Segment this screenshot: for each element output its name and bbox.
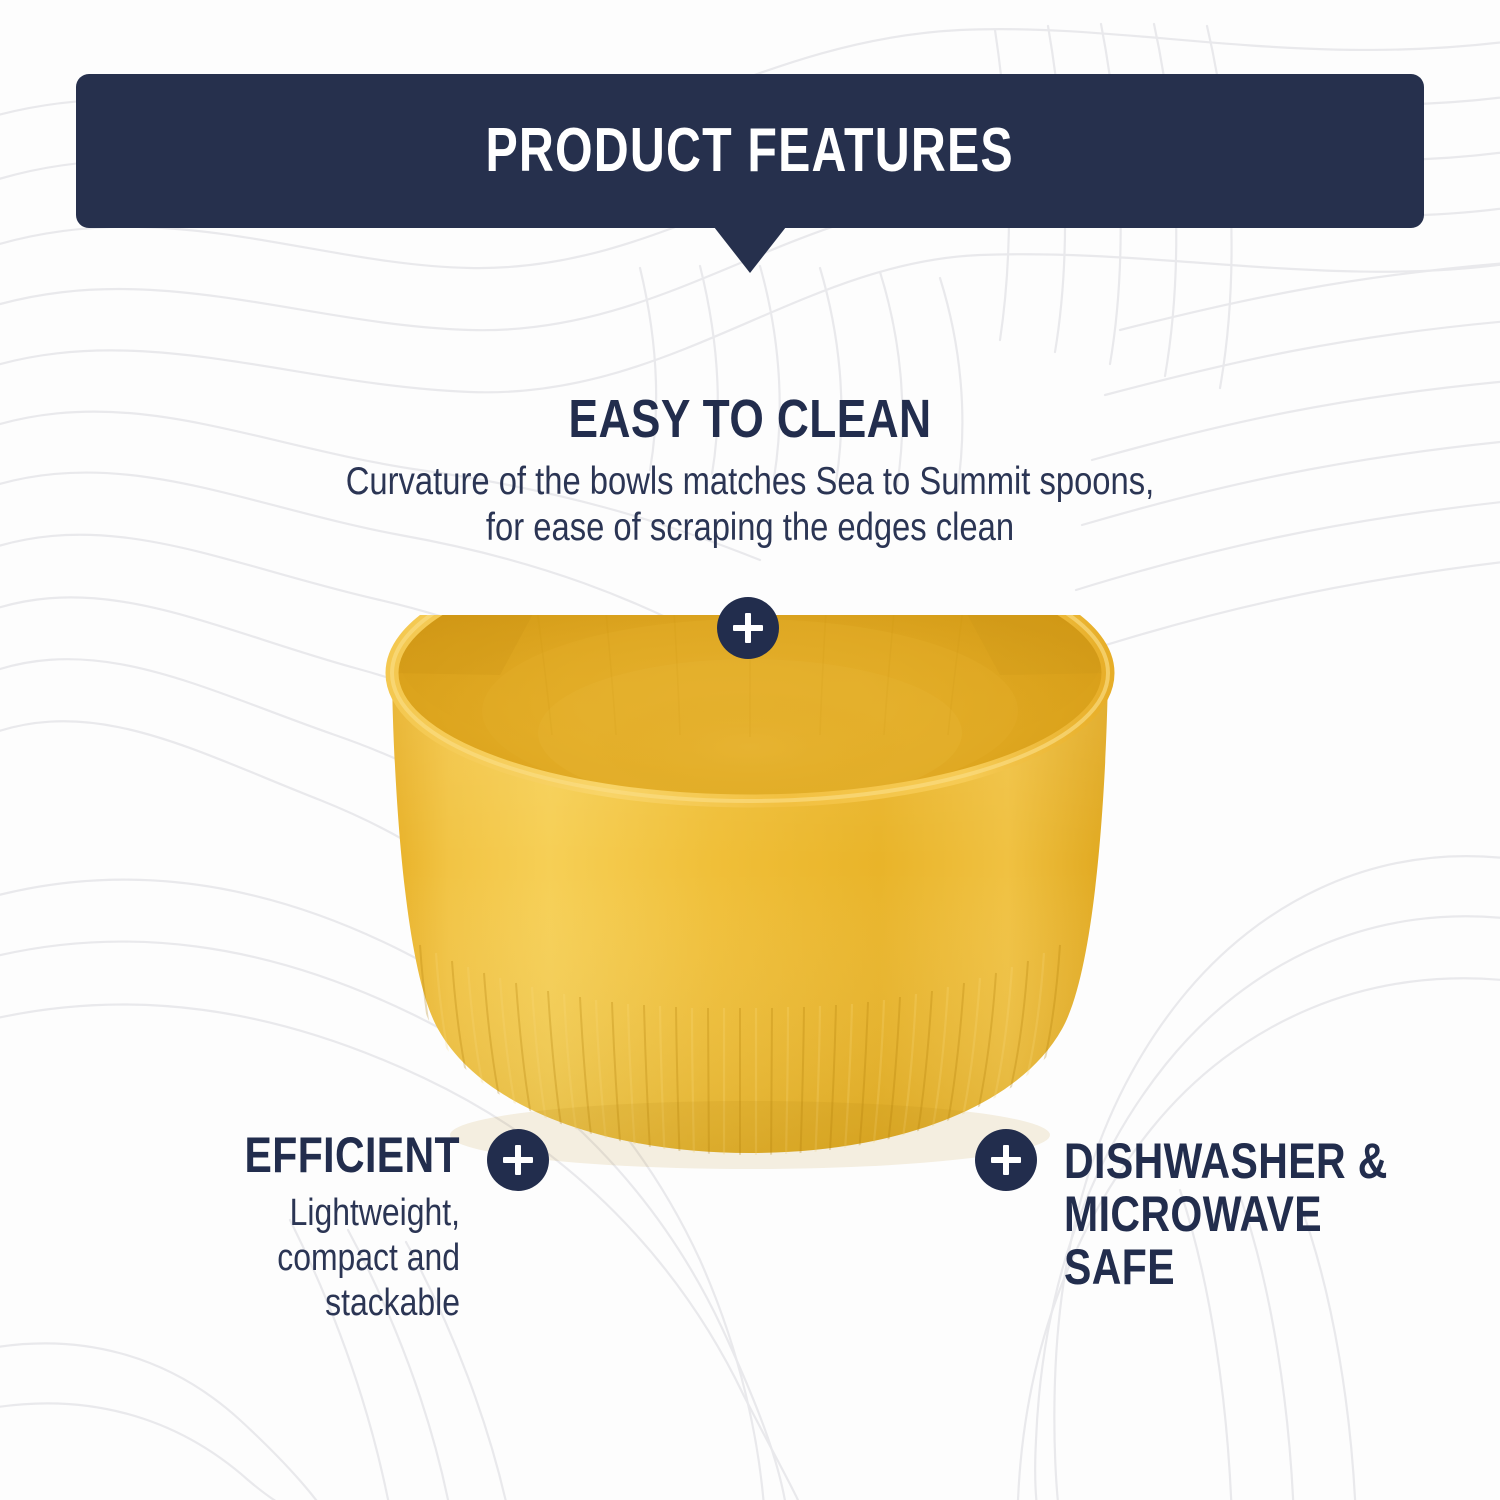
plus-icon-dishwasher-microwave-safe[interactable] [975, 1129, 1037, 1191]
feature-heading: EASY TO CLEAN [340, 392, 1160, 447]
page-title: PRODUCT FEATURES [486, 120, 1014, 182]
plus-icon [733, 613, 763, 643]
feature-description: Curvature of the bowls matches Sea to Su… [330, 459, 1170, 551]
feature-description: Lightweight, compact and stackable [183, 1191, 460, 1325]
feature-heading: EFFICIENT [189, 1130, 460, 1181]
feature-heading: DISHWASHER & MICROWAVE SAFE [1064, 1135, 1408, 1294]
plus-icon-efficient[interactable] [487, 1129, 549, 1191]
triangle-down-icon [714, 227, 786, 273]
header-banner: PRODUCT FEATURES [76, 74, 1424, 228]
feature-easy-to-clean: EASY TO CLEAN Curvature of the bowls mat… [250, 392, 1250, 551]
feature-dishwasher-microwave-safe: DISHWASHER & MICROWAVE SAFE [1064, 1135, 1484, 1294]
plus-icon [991, 1145, 1021, 1175]
plus-icon-easy-to-clean[interactable] [717, 597, 779, 659]
feature-efficient: EFFICIENT Lightweight, compact and stack… [130, 1130, 460, 1325]
infographic-canvas: PRODUCT FEATURES EASY TO CLEAN Curvature… [0, 0, 1500, 1500]
plus-icon [503, 1145, 533, 1175]
